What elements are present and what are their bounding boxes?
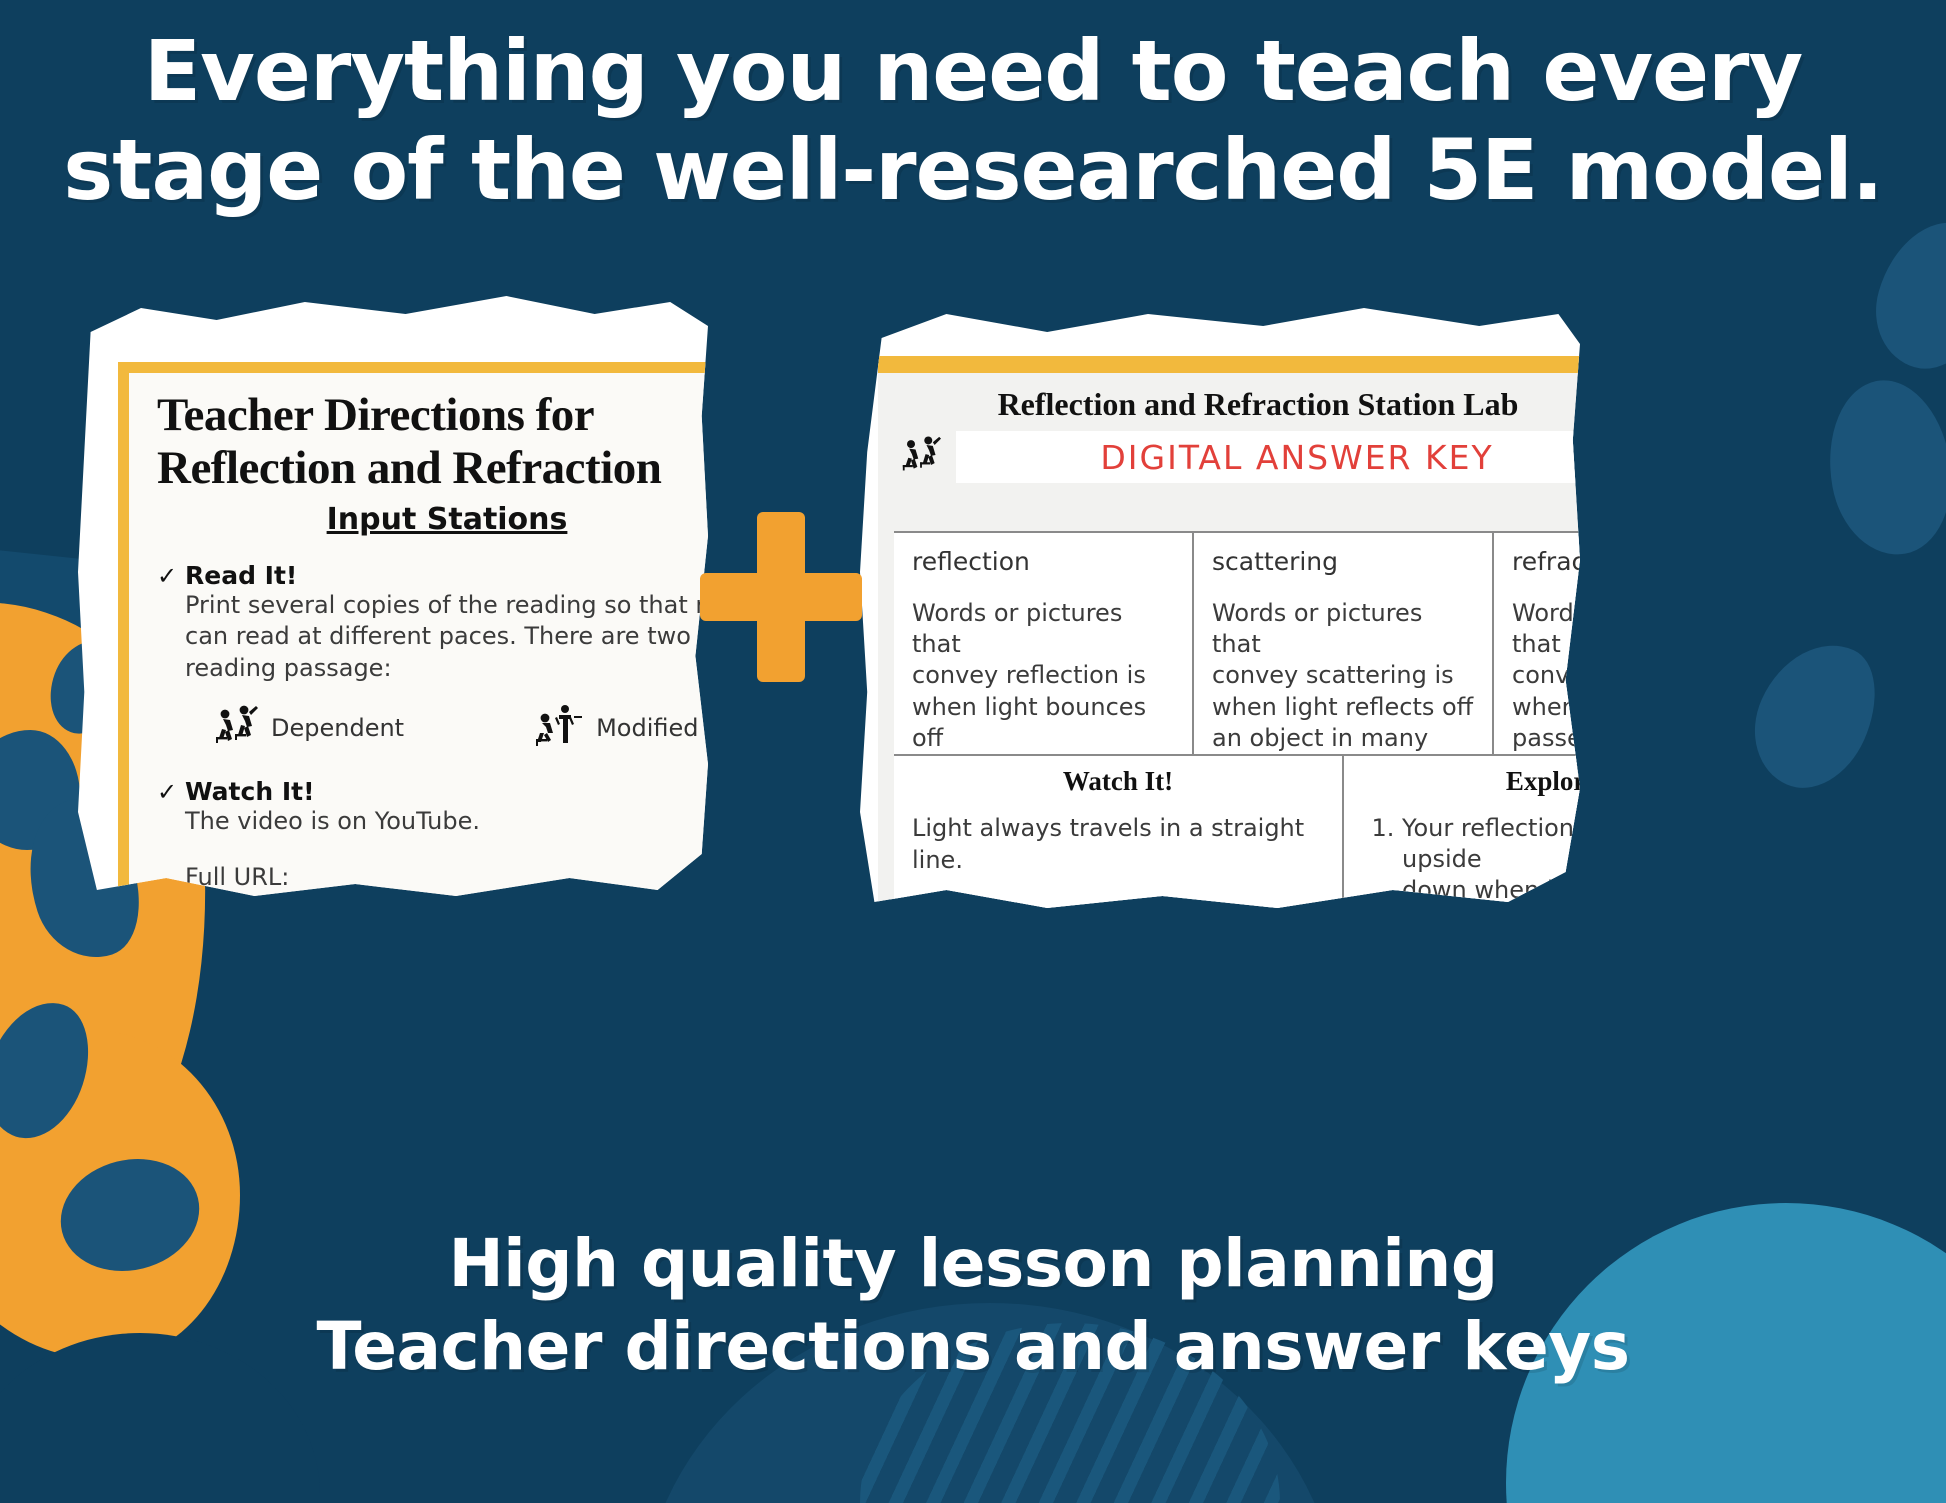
headline-bottom-line2: Teacher directions and answer keys — [0, 1305, 1946, 1388]
doc-title-line2: Reflection and Refraction — [157, 442, 708, 495]
answer-key-lower-sections: Watch It! Light always travels in a stra… — [894, 754, 1580, 908]
digital-answer-key-label: DIGITAL ANSWER KEY — [1100, 438, 1493, 477]
lower-section-heading: Watch It! — [912, 766, 1324, 797]
check-icon: ✓ — [157, 778, 185, 806]
answer-key-page: Reflection and Refraction Station Lab — [878, 356, 1580, 908]
headline-top: Everything you need to teach every stage… — [0, 22, 1946, 220]
doc-subtitle: Input Stations — [157, 502, 708, 537]
teacher-directions-page: Teacher Directions for Reflection and Re… — [118, 362, 708, 896]
check-icon: ✓ — [157, 562, 185, 590]
version-option-dependent: Dependent — [213, 704, 404, 753]
reading-version-row: Dependent — [213, 704, 708, 753]
lower-section-explore-it: Explore It! Your reflection should look … — [1344, 756, 1580, 908]
list-item: Your reflection should look upside down … — [1402, 813, 1580, 908]
navy-dot-shape — [1816, 371, 1946, 564]
navy-dot-shape — [0, 730, 80, 850]
vocab-term: refraction — [1512, 547, 1580, 576]
version-option-modified: Modified — [534, 704, 698, 753]
lower-section-watch-it: Watch It! Light always travels in a stra… — [894, 756, 1344, 908]
full-url-label: Full URL: — [185, 863, 708, 891]
video-url-link-line1[interactable]: https://egvideos.educationgalaxy.com/vid… — [185, 891, 708, 896]
teacher-directions-card[interactable]: Teacher Directions for Reflection and Re… — [78, 296, 708, 896]
checklist-body-line: The video is on YouTube. — [185, 806, 708, 837]
headline-bottom: High quality lesson planning Teacher dir… — [0, 1222, 1946, 1388]
checklist-heading: ✓Watch It! — [157, 777, 708, 806]
plus-icon — [700, 512, 862, 682]
checklist-item-read-it: ✓Read It! Print several copies of the re… — [157, 561, 708, 684]
headline-bottom-line1: High quality lesson planning — [0, 1222, 1946, 1305]
answer-key-title: Reflection and Refraction Station Lab — [878, 386, 1580, 423]
navy-dot-shape — [1861, 208, 1946, 383]
navy-dot-shape — [1734, 624, 1896, 806]
students-running-icon — [213, 704, 259, 753]
lower-section-body: Light always travels in a straight line.… — [912, 813, 1324, 908]
checklist-body-line: reading passage: — [185, 653, 708, 684]
answer-key-card[interactable]: Reflection and Refraction Station Lab — [860, 308, 1580, 908]
teacher-and-student-icon — [534, 704, 584, 753]
vocab-term: scattering — [1212, 547, 1474, 576]
headline-top-line2: stage of the well-researched 5E model. — [0, 121, 1946, 220]
checklist-heading-label: Read It! — [185, 561, 297, 590]
lower-section-heading: Explore It! — [1362, 766, 1580, 797]
poster-canvas: Everything you need to teach every stage… — [0, 0, 1946, 1503]
gold-accent-bar — [878, 356, 1580, 373]
plus-horizontal-bar — [700, 573, 862, 621]
headline-top-line1: Everything you need to teach every — [0, 22, 1946, 121]
version-option-label: Dependent — [271, 714, 404, 742]
checklist-body-line: can read at different paces. There are t… — [185, 621, 708, 652]
checklist-heading-label: Watch It! — [185, 777, 314, 806]
digital-answer-key-banner: DIGITAL ANSWER KEY — [956, 431, 1580, 483]
students-running-icon — [900, 435, 942, 480]
checklist-item-watch-it: ✓Watch It! The video is on YouTube. — [157, 777, 708, 837]
vocab-term: reflection — [912, 547, 1174, 576]
version-option-label: Modified — [596, 714, 698, 742]
explore-it-list: Your reflection should look upside down … — [1362, 813, 1580, 908]
checklist-heading: ✓Read It! — [157, 561, 708, 590]
answer-key-banner-row: DIGITAL ANSWER KEY — [900, 431, 1580, 483]
checklist-body-line: Print several copies of the reading so t… — [185, 590, 708, 621]
navy-dot-shape — [0, 989, 104, 1152]
doc-title-line1: Teacher Directions for — [157, 389, 708, 442]
